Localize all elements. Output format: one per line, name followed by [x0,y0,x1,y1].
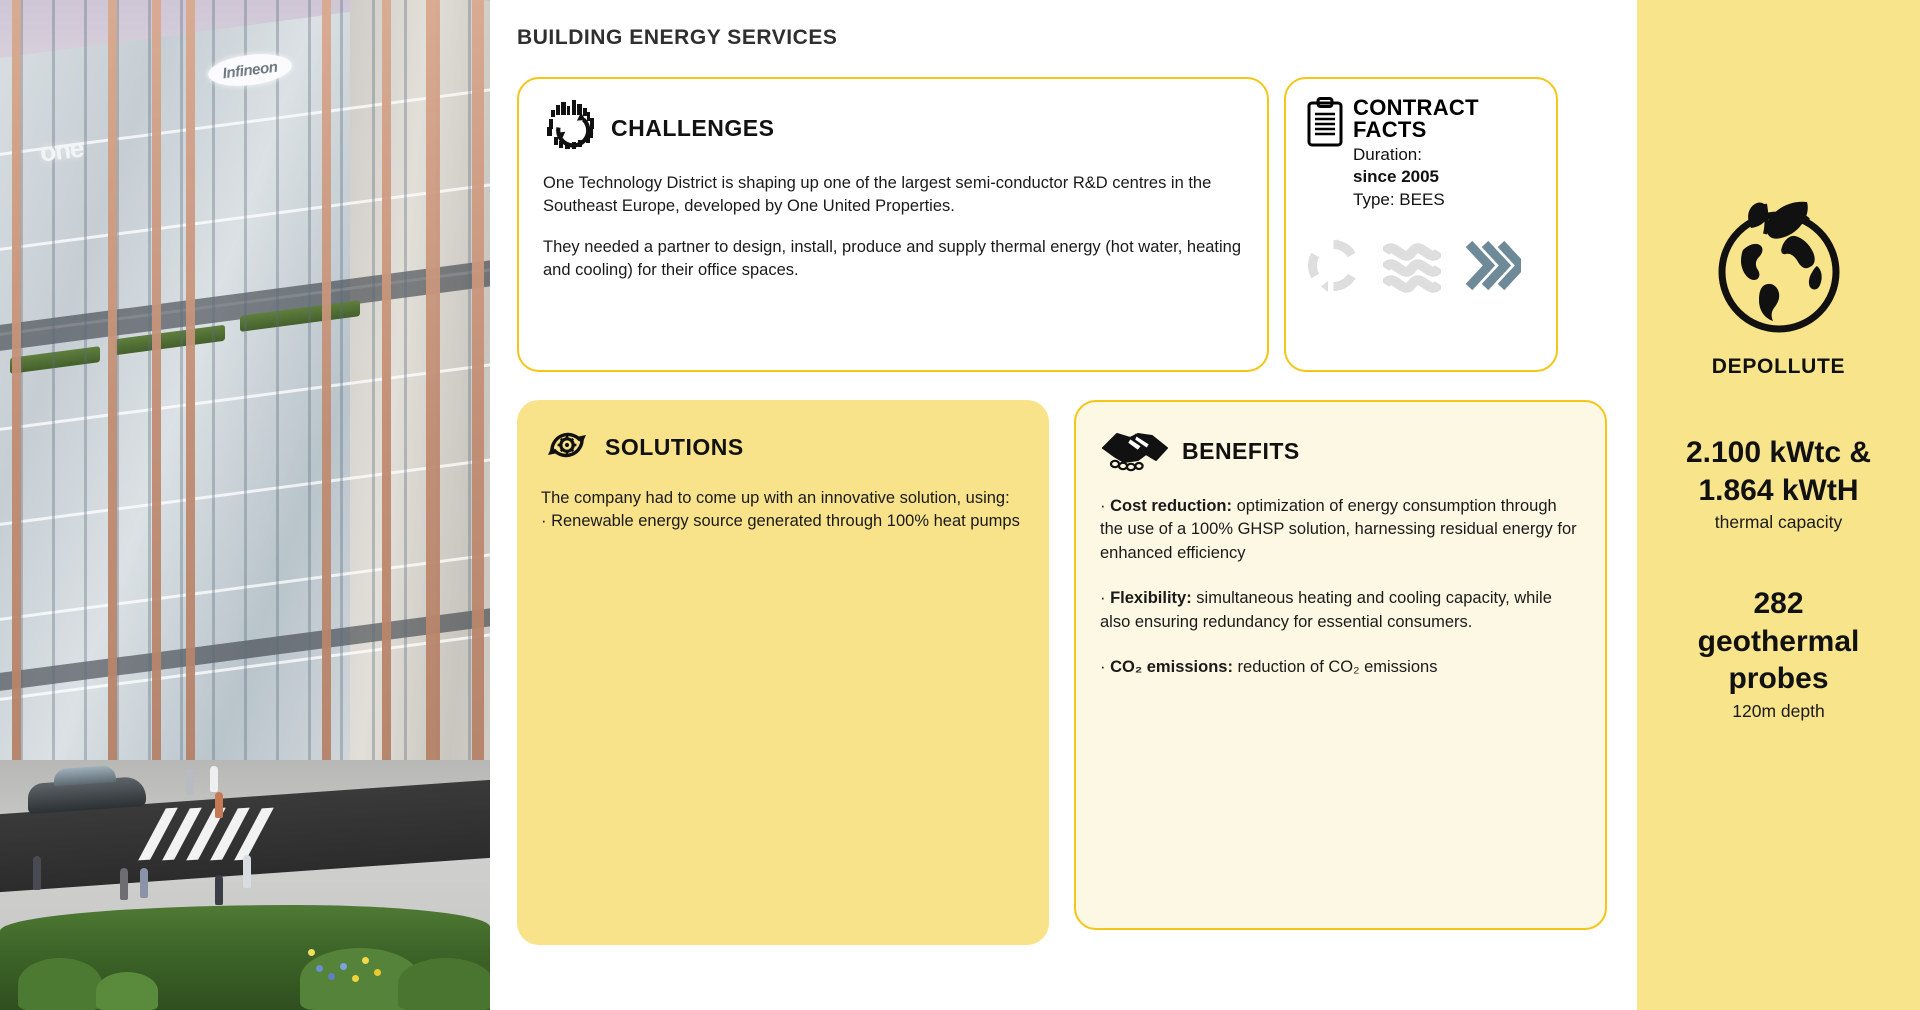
solutions-line-1: The company had to come up with an innov… [541,487,1025,510]
kpi1-line2: 1.864 kWtH [1686,472,1871,510]
page-title: BUILDING ENERGY SERVICES [517,26,1637,50]
benefit-label: Cost reduction: [1110,497,1232,515]
contract-facts-details: Duration: since 2005 Type: BEES [1353,144,1479,212]
challenges-paragraph-2: They needed a partner to design, install… [543,236,1243,283]
contract-type: Type: BEES [1353,189,1479,212]
clipboard-icon [1306,97,1344,152]
benefit-item: · Cost reduction: optimization of energy… [1100,495,1581,565]
building-photo-canvas: Infineon one [0,0,490,1010]
benefits-list: · Cost reduction: optimization of energy… [1100,495,1581,680]
solutions-card: SOLUTIONS The company had to come up wit… [517,400,1049,945]
duration-value: since 2005 [1353,166,1479,189]
kpi1-caption: thermal capacity [1686,512,1871,533]
challenges-title: CHALLENGES [611,115,774,142]
circular-arrows-city-icon [543,99,599,158]
benefit-text: reduction of CO₂ emissions [1233,658,1438,676]
benefit-bullet: · [1100,589,1106,607]
challenges-card: CHALLENGES One Technology District is sh… [517,77,1269,372]
challenges-body: One Technology District is shaping up on… [543,172,1243,283]
kpi-category: DEPOLLUTE [1712,355,1845,379]
benefit-item: · CO₂ emissions: reduction of CO₂ emissi… [1100,656,1581,679]
kpi2-line1: 282 [1698,585,1860,623]
top-card-row: CHALLENGES One Technology District is sh… [517,77,1637,372]
benefit-label: Flexibility: [1110,589,1192,607]
challenges-paragraph-1: One Technology District is shaping up on… [543,172,1243,219]
building-photo: Infineon one [0,0,490,1010]
kpi-sidebar: DEPOLLUTE 2.100 kWtc & 1.864 kWtH therma… [1637,0,1920,1010]
contract-facts-badges [1306,238,1536,298]
kpi2-line2: geothermal [1698,623,1860,661]
chevrons-icon [1463,238,1521,298]
bottom-card-row: SOLUTIONS The company had to come up wit… [517,400,1637,945]
contract-facts-title: CONTRACT FACTS Duration: since 2005 Type… [1353,97,1479,212]
benefits-card: BENEFITS · Cost reduction: optimization … [1074,400,1607,930]
contract-facts-card: CONTRACT FACTS Duration: since 2005 Type… [1284,77,1558,372]
kpi1-line1: 2.100 kWtc & [1686,434,1871,472]
solutions-body: The company had to come up with an innov… [541,487,1025,534]
handshake-icon [1100,424,1170,479]
kpi-geothermal-probes: 282 geothermal probes 120m depth [1698,585,1860,722]
benefit-item: · Flexibility: simultaneous heating and … [1100,587,1581,634]
globe-leaf-icon [1703,188,1855,345]
benefits-title: BENEFITS [1182,438,1300,465]
kpi2-line3: probes [1698,660,1860,698]
gear-cycle-icon [541,422,593,473]
solutions-header: SOLUTIONS [541,422,1025,473]
solutions-title: SOLUTIONS [605,434,744,461]
benefits-header: BENEFITS [1100,424,1581,479]
solutions-line-2: · Renewable energy source generated thro… [541,510,1025,533]
benefit-label: CO₂ emissions: [1110,658,1233,676]
main-content: BUILDING ENERGY SERVICES [490,0,1637,1010]
waves-icon [1383,238,1441,298]
one-logo: one [38,132,85,168]
circular-arrows-icon [1306,238,1361,298]
duration-label: Duration: [1353,144,1479,167]
kpi-thermal-capacity: 2.100 kWtc & 1.864 kWtH thermal capacity [1686,434,1871,533]
challenges-header: CHALLENGES [543,99,1243,158]
benefit-bullet: · [1100,658,1106,676]
contract-facts-header: CONTRACT FACTS Duration: since 2005 Type… [1306,97,1536,212]
contract-facts-title-line2: FACTS [1353,119,1479,141]
benefit-bullet: · [1100,497,1106,515]
contract-facts-title-line1: CONTRACT [1353,97,1479,119]
kpi2-caption: 120m depth [1698,701,1860,722]
